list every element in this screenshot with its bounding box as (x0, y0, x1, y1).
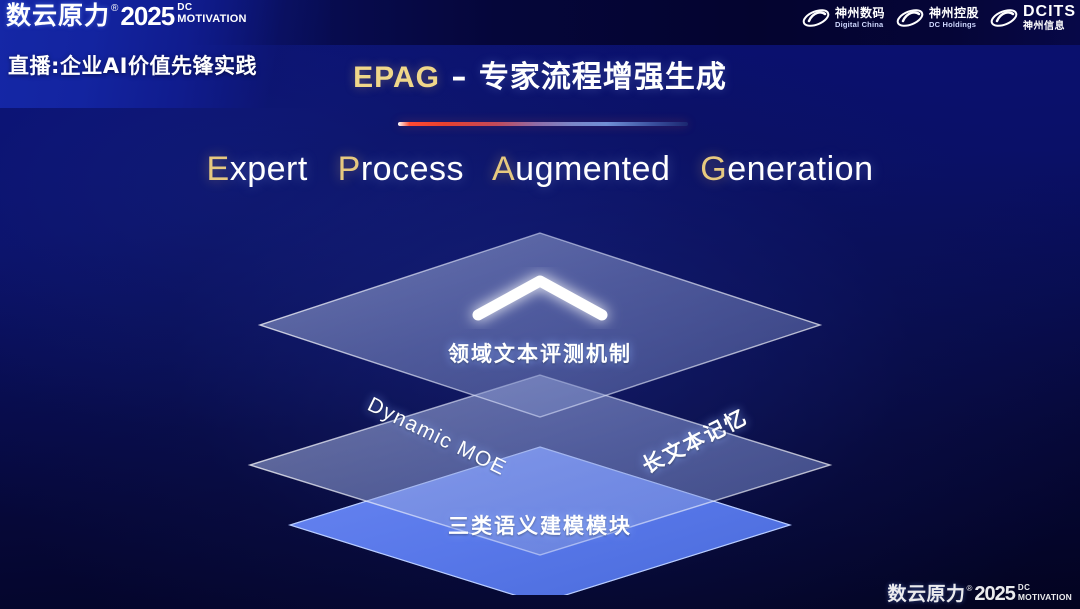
presentation-slide: 数云原力 ® 2025 DC MOTIVATION 直播:企业AI价值先锋实践 … (0, 0, 1080, 609)
subtitle-word-process: Process (338, 150, 464, 188)
title-divider (398, 122, 688, 126)
partner-name-en: DC Holdings (929, 21, 979, 29)
title-chinese: 专家流程增强生成 (479, 60, 727, 95)
slide-subtitle: Expert Process Augmented Generation (0, 150, 1080, 189)
subtitle-capital: A (492, 150, 515, 188)
subtitle-word-generation: Generation (700, 150, 873, 188)
subtitle-capital: G (700, 150, 727, 188)
watermark-registered-mark: ® (966, 583, 972, 594)
brand-name-cn: 数云原力 (6, 2, 110, 30)
subtitle-space (318, 150, 328, 188)
watermark-dc-line1: DC (1018, 584, 1072, 592)
subtitle-capital: E (207, 150, 230, 188)
title-acronym: EPAG (353, 61, 440, 94)
partner-name-cn: 神州信息 (1023, 22, 1076, 32)
partner-name-cn: 神州控股 (929, 7, 979, 19)
partner-logo-dc-holdings: 神州控股 DC Holdings (895, 6, 979, 30)
partner-text: 神州控股 DC Holdings (929, 7, 979, 29)
partner-text: DCITS 神州信息 (1023, 4, 1076, 32)
subtitle-capital: P (338, 150, 361, 188)
watermark-year: 2025 (974, 583, 1015, 605)
partner-name-en: Digital China (835, 21, 885, 29)
swoosh-icon (989, 6, 1019, 30)
brand-registered-mark: ® (111, 2, 118, 16)
brand-dc-line2: MOTIVATION (177, 13, 246, 25)
subtitle-rest: ugmented (515, 150, 670, 188)
watermark-name-cn: 数云原力 (887, 583, 965, 605)
subtitle-space (474, 150, 484, 188)
swoosh-icon (801, 6, 831, 30)
subtitle-rest: eneration (727, 150, 873, 188)
watermark-dc-line2: MOTIVATION (1018, 592, 1072, 602)
layered-architecture-diagram: 领域文本评测机制 Dynamic MOE 长文本记忆 三类语义建模模块 (0, 215, 1080, 595)
subtitle-rest: rocess (361, 150, 464, 188)
brand-watermark: 数云原力 ® 2025 DC MOTIVATION (887, 583, 1072, 605)
subtitle-space (680, 150, 690, 188)
brand-year: 2025 (120, 2, 174, 30)
diagram-canvas (0, 215, 1080, 595)
brand-dc-line1: DC (177, 3, 246, 13)
brand-logo: 数云原力 ® 2025 DC MOTIVATION (6, 2, 247, 30)
partner-name-cn: 神州数码 (835, 7, 885, 19)
subtitle-word-expert: Expert (207, 150, 308, 188)
partner-logos: 神州数码 Digital China 神州控股 DC Holdings DCIT… (801, 4, 1076, 32)
subtitle-rest: xpert (230, 150, 308, 188)
watermark-dc-motivation: DC MOTIVATION (1018, 584, 1072, 602)
title-separator: – (440, 60, 479, 95)
live-topic-label: 直播:企业AI价值先锋实践 (8, 50, 257, 80)
partner-logo-dcits: DCITS 神州信息 (989, 4, 1076, 32)
swoosh-icon (895, 6, 925, 30)
partner-name-en: DCITS (1023, 4, 1076, 20)
partner-text: 神州数码 Digital China (835, 7, 885, 29)
partner-logo-digital-china: 神州数码 Digital China (801, 6, 885, 30)
brand-dc-motivation: DC MOTIVATION (177, 3, 246, 25)
layer-plate-top (260, 233, 820, 417)
subtitle-word-augmented: Augmented (492, 150, 670, 188)
